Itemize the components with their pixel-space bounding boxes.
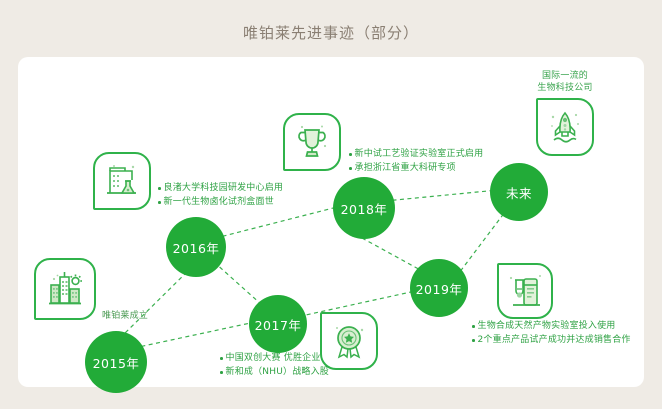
timeline-node-2016[interactable]: 2016年 [166, 217, 226, 277]
future-caption-line1: 国际一流的 [520, 70, 610, 82]
infographic-stage: 唯铂莱先进事迹（部分） [0, 0, 662, 409]
lab-equipment-icon [505, 271, 545, 311]
timeline-node-2015[interactable]: 2015年 [85, 331, 147, 393]
note-text: 新一代生物卤化试剂盒面世 [164, 196, 274, 209]
badge-future-rocket [536, 98, 594, 156]
note-text: 生物合成天然产物实验室投入使用 [478, 320, 616, 333]
notes-2017: 中国双创大赛 优胜企业 新和成（NHU）战略入股 [220, 352, 329, 380]
future-caption: 国际一流的 生物科技公司 [520, 70, 610, 94]
note-text: 良渚大学科技园研发中心启用 [164, 182, 284, 195]
bullet-dot [472, 325, 475, 328]
page-title: 唯铂莱先进事迹（部分） [0, 22, 662, 43]
badge-2019-equipment [497, 263, 553, 319]
timeline-node-2017[interactable]: 2017年 [249, 295, 307, 353]
bullet-dot [472, 339, 475, 342]
note-item: 承担浙江省重大科研专项 [349, 162, 483, 175]
note-text: 新和成（NHU）战略入股 [226, 366, 330, 379]
note-text: 新中试工艺验证实验室正式启用 [355, 148, 484, 161]
note-text: 承担浙江省重大科研专项 [355, 162, 456, 175]
note-text: 2个重点产品试产成功并达成销售合作 [478, 334, 631, 347]
timeline-node-future[interactable]: 未来 [490, 163, 548, 221]
badge-2016-lab [93, 152, 151, 210]
bullet-dot [349, 153, 352, 156]
bullet-dot [158, 201, 161, 204]
badge-2018-trophy [283, 113, 341, 171]
bullet-dot [220, 371, 223, 374]
bullet-dot [158, 187, 161, 190]
medal-ribbon-icon [329, 321, 369, 361]
note-item: 生物合成天然产物实验室投入使用 [472, 320, 631, 333]
bullet-dot [220, 357, 223, 360]
timeline-node-2019[interactable]: 2019年 [410, 259, 468, 317]
notes-2016: 良渚大学科技园研发中心启用 新一代生物卤化试剂盒面世 [158, 182, 283, 210]
timeline-node-2018[interactable]: 2018年 [333, 177, 395, 239]
note-item: 新一代生物卤化试剂盒面世 [158, 196, 283, 209]
note-item: 新中试工艺验证实验室正式启用 [349, 148, 483, 161]
notes-2019: 生物合成天然产物实验室投入使用 2个重点产品试产成功并达成销售合作 [472, 320, 631, 348]
trophy-icon [292, 122, 332, 162]
notes-2018: 新中试工艺验证实验室正式启用 承担浙江省重大科研专项 [349, 148, 483, 176]
note-item: 中国双创大赛 优胜企业 [220, 352, 329, 365]
future-caption-line2: 生物科技公司 [520, 82, 610, 94]
badge-2015-buildings [34, 258, 96, 320]
buildings-icon [44, 268, 86, 310]
note-item: 新和成（NHU）战略入股 [220, 366, 329, 379]
lab-flask-icon [102, 161, 142, 201]
rocket-icon [545, 107, 585, 147]
note-item: 良渚大学科技园研发中心启用 [158, 182, 283, 195]
note-item: 2个重点产品试产成功并达成销售合作 [472, 334, 631, 347]
note-text: 中国双创大赛 优胜企业 [226, 352, 321, 365]
bullet-dot [349, 167, 352, 170]
caption-2015: 唯铂莱成立 [102, 308, 148, 321]
